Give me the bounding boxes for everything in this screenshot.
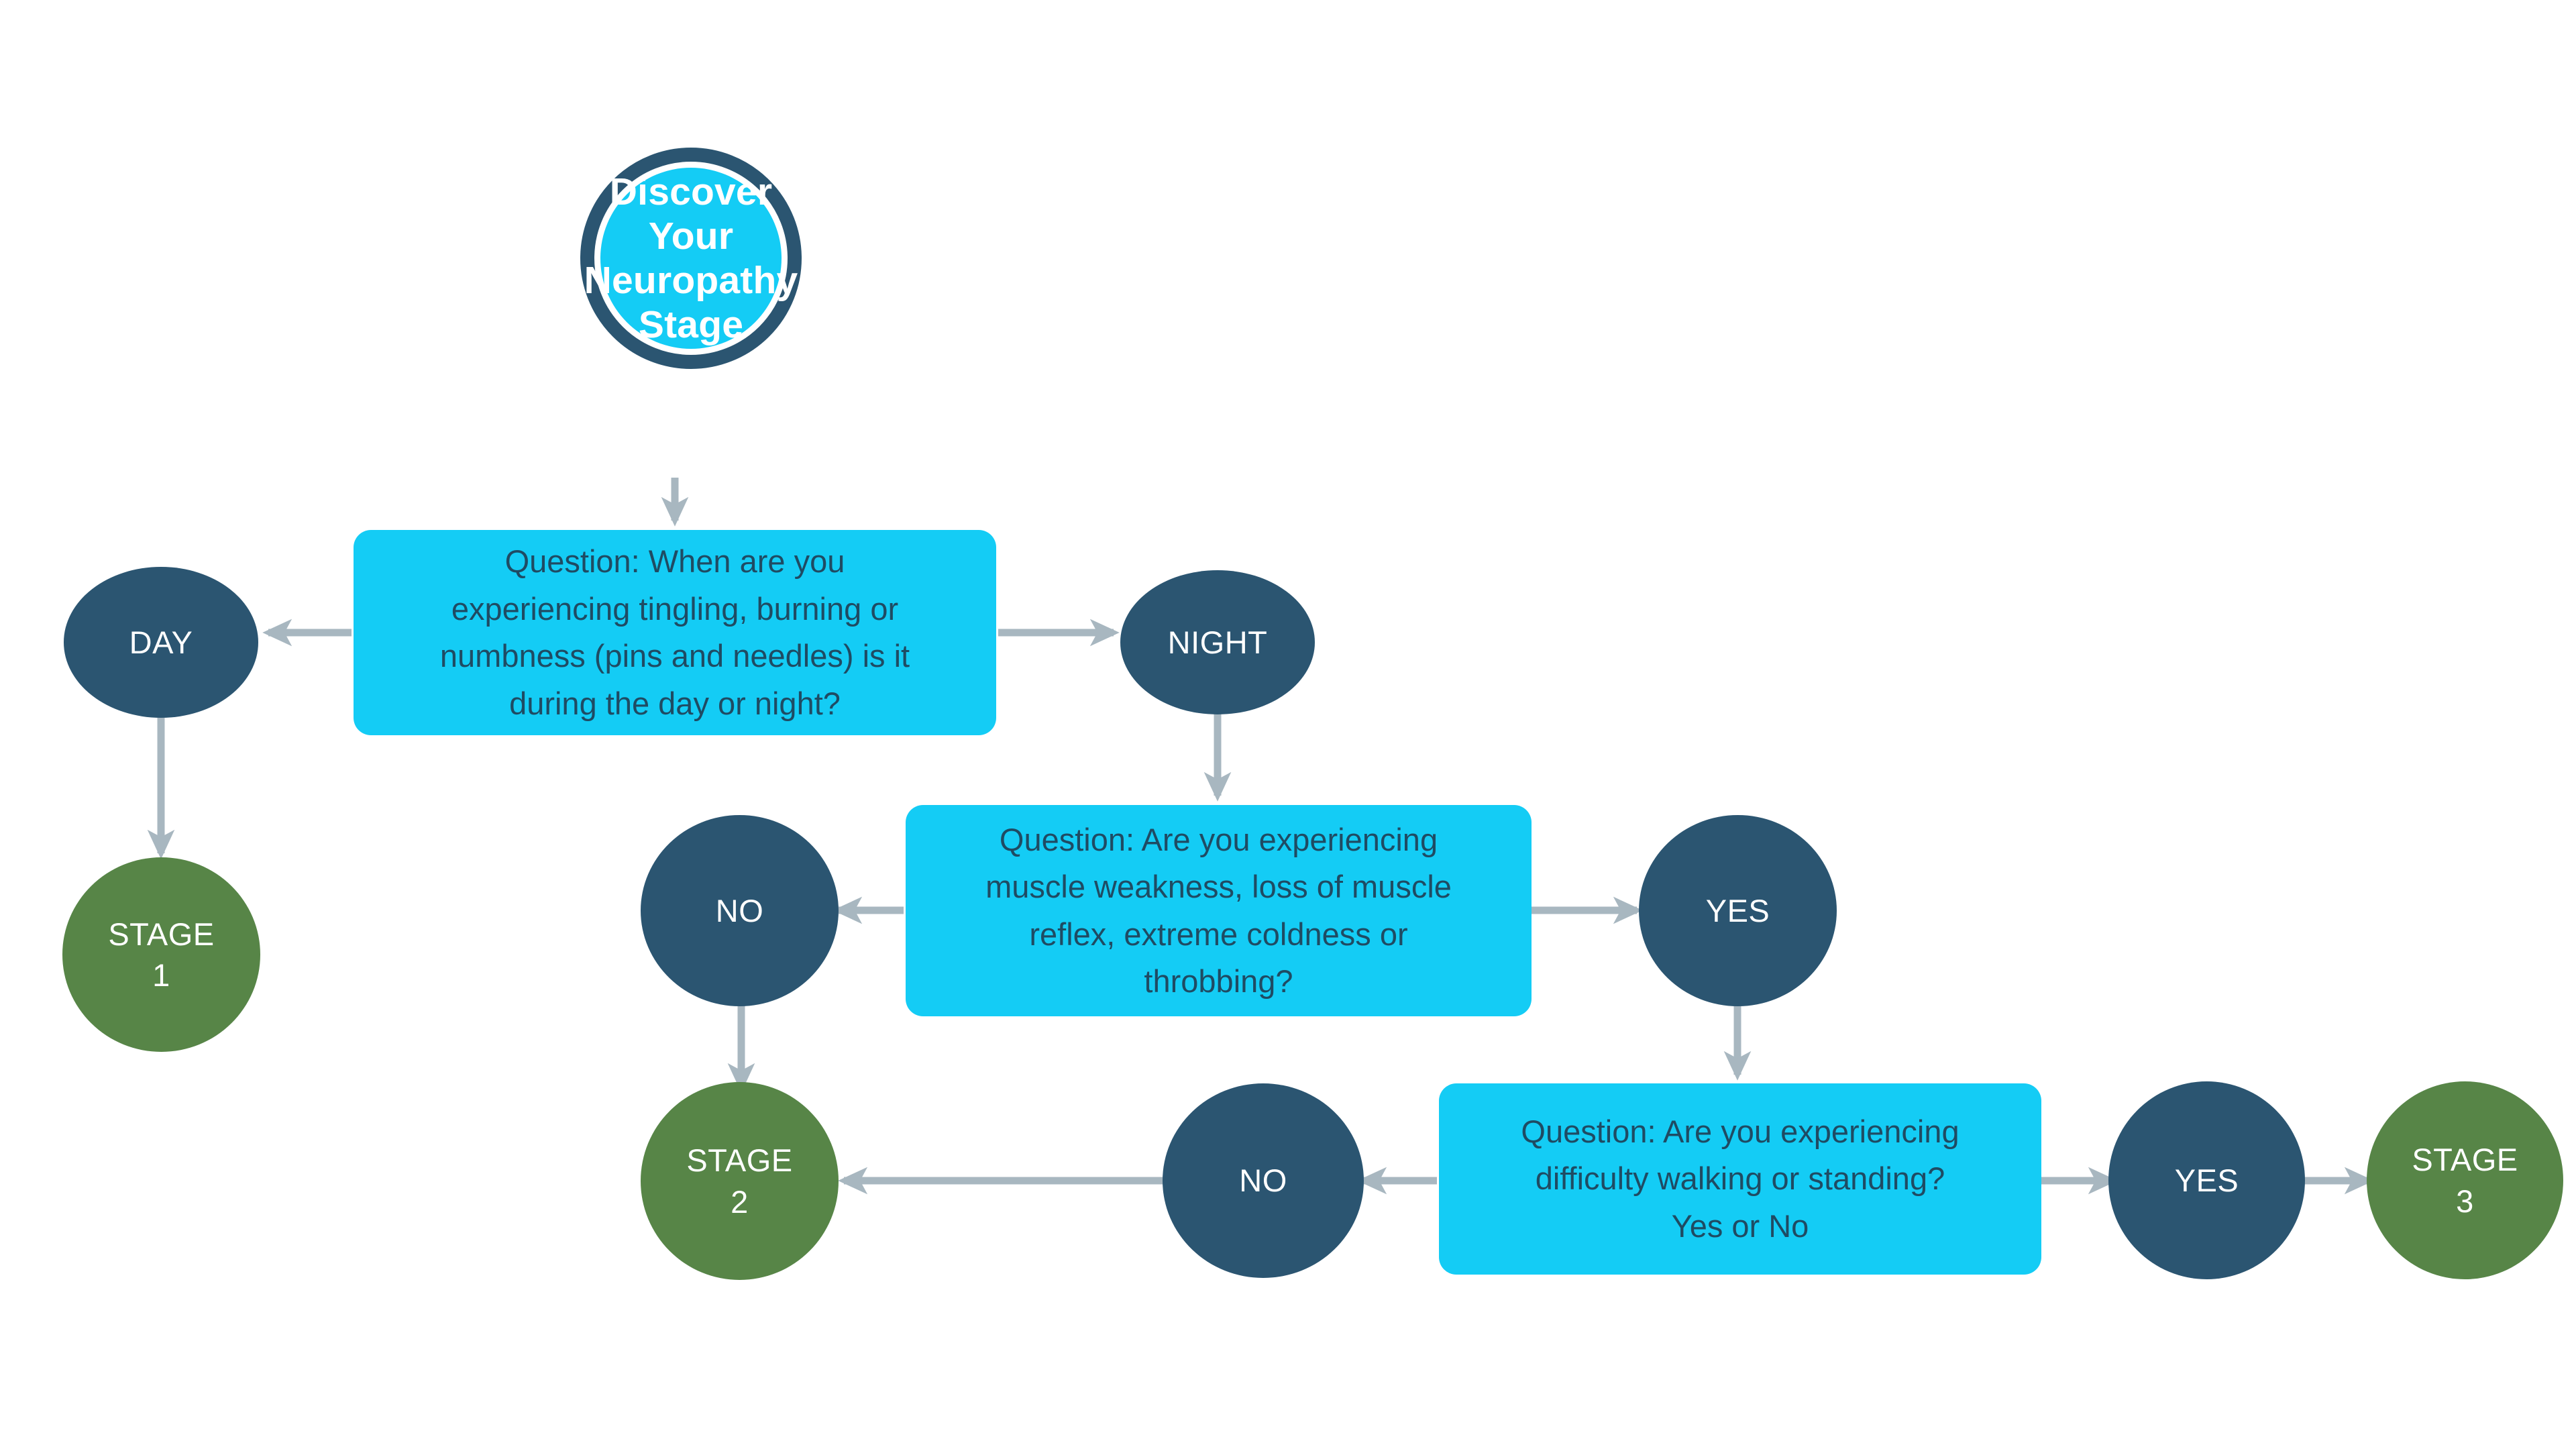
answer-node-yes-row3[interactable]: YES [2108,1081,2305,1279]
answer-node-yes-row2[interactable]: YES [1639,815,1837,1006]
question-box-2[interactable]: Question: Are you experiencing muscle we… [906,805,1532,1016]
flowchart-canvas: Discover Your Neuropathy Stage Question:… [0,0,2576,1449]
title-inner-circle: Discover Your Neuropathy Stage [600,168,782,349]
answer-node-no-row2[interactable]: NO [641,815,839,1006]
answer-node-no-row3-label: NO [1239,1160,1287,1201]
answer-node-no-row2-label: NO [716,890,764,931]
answer-node-night[interactable]: NIGHT [1120,570,1315,714]
outcome-node-stage-2-label: STAGE 2 [686,1140,792,1222]
answer-node-no-row3[interactable]: NO [1163,1083,1364,1278]
answer-node-yes-row2-label: YES [1706,890,1770,931]
answer-node-night-label: NIGHT [1168,622,1268,663]
question-box-1-label: Question: When are you experiencing ting… [440,538,910,727]
question-box-1[interactable]: Question: When are you experiencing ting… [354,530,996,735]
outcome-node-stage-3[interactable]: STAGE 3 [2367,1081,2563,1279]
question-box-2-label: Question: Are you experiencing muscle we… [985,816,1452,1006]
question-box-3-label: Question: Are you experiencing difficult… [1521,1108,1959,1250]
outcome-node-stage-2[interactable]: STAGE 2 [641,1082,839,1280]
answer-node-day-label: DAY [129,622,193,663]
question-box-3[interactable]: Question: Are you experiencing difficult… [1439,1083,2041,1275]
answer-node-day[interactable]: DAY [64,567,258,718]
start-node-discover-stage[interactable]: Discover Your Neuropathy Stage [580,148,802,369]
outcome-node-stage-1-label: STAGE 1 [108,914,214,996]
start-node-label: Discover Your Neuropathy Stage [572,170,810,347]
outcome-node-stage-1[interactable]: STAGE 1 [62,857,260,1052]
outcome-node-stage-3-label: STAGE 3 [2412,1139,2518,1221]
answer-node-yes-row3-label: YES [2175,1160,2239,1201]
